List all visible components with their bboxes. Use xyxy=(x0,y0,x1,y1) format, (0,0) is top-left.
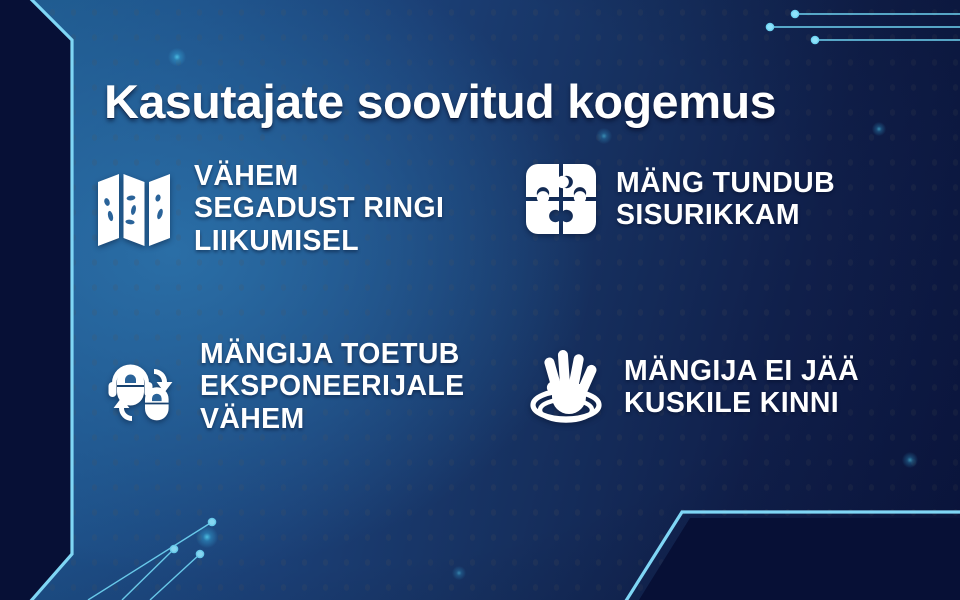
feature-label: VÄHEM SEGADUST RINGI LIIKUMISEL xyxy=(194,160,444,257)
feature-label: MÄNG TUNDUB SISURIKKAM xyxy=(616,167,835,232)
infographic-canvas: Kasutajate soovitud kogemus xyxy=(0,0,960,600)
feature-label: MÄNGIJA TOETUB EKSPONEERIJALE VÄHEM xyxy=(200,338,464,435)
two-headsets-rotation-icon xyxy=(104,347,182,427)
content-layer: Kasutajate soovitud kogemus xyxy=(0,0,960,600)
puzzle-pieces-icon xyxy=(526,164,596,234)
feature-label: MÄNGIJA EI JÄÄ KUSKILE KINNI xyxy=(624,355,859,420)
feature-item-game-feels-richer[interactable]: MÄNG TUNDUB SISURIKKAM xyxy=(526,164,840,234)
feature-grid: VÄHEM SEGADUST RINGI LIIKUMISEL xyxy=(96,150,936,460)
folded-map-icon xyxy=(96,168,172,250)
hand-in-hole-icon xyxy=(526,348,606,426)
feature-item-less-reliance-on-host[interactable]: MÄNGIJA TOETUB EKSPONEERIJALE VÄHEM xyxy=(104,338,470,435)
feature-item-less-confusion-navigating[interactable]: VÄHEM SEGADUST RINGI LIIKUMISEL xyxy=(96,160,449,257)
page-title: Kasutajate soovitud kogemus xyxy=(104,74,776,129)
feature-item-player-never-gets-stuck[interactable]: MÄNGIJA EI JÄÄ KUSKILE KINNI xyxy=(526,348,864,426)
